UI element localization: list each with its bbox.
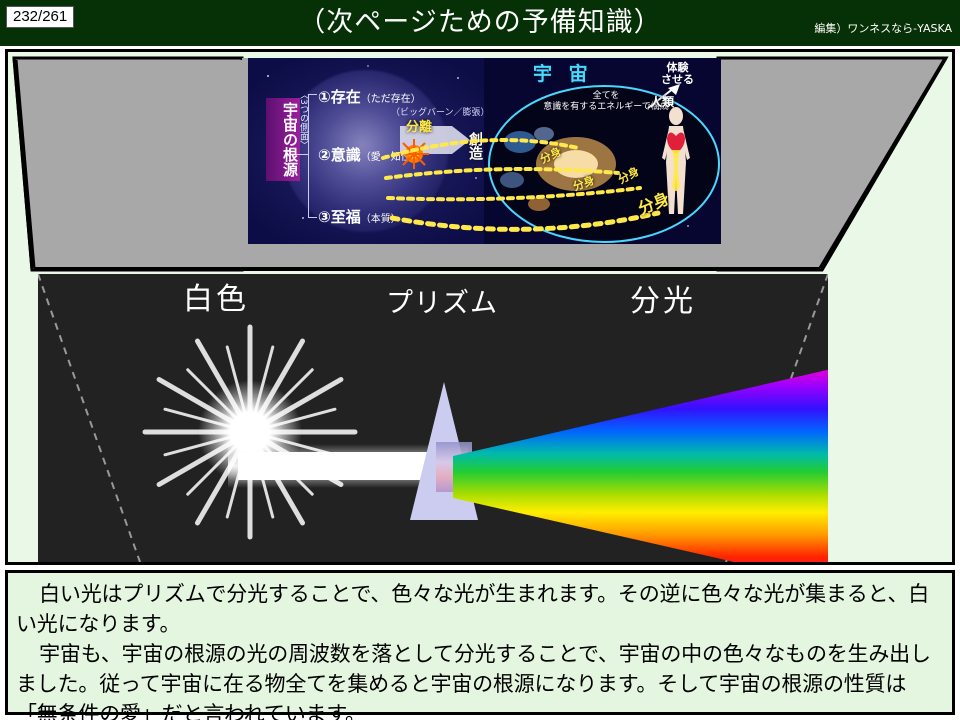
author-credit: 編集）ワンネスなら-YASKA (814, 22, 952, 35)
label-white-light: 白色 (183, 284, 249, 316)
aspect-1-num: ① (318, 88, 331, 106)
bigbang-note: （ビッグバーン／膨張） (391, 108, 490, 118)
caption-paragraph-2: 宇宙も、宇宙の根源の光の周波数を落として分光することで、宇宙の中の色々なものを生… (16, 639, 944, 720)
header-bar: 232/261 （次ページための予備知識） 編集）ワンネスなら-YASKA (0, 0, 960, 46)
universe-title: 宇 宙 (533, 64, 593, 85)
cosmology-inset-image: 宇宙の根源 〈3つの側面〉 ①存在（ただ存在） ②意識（愛・知性） ③至福（本質… (248, 58, 721, 244)
aspect-3-num: ③ (318, 208, 331, 226)
aspect-item-1: ①存在（ただ存在） (318, 86, 421, 107)
aspects-bracket-stem (296, 154, 309, 155)
source-root-label: 宇宙の根源 (266, 98, 300, 181)
aspect-2-name: 意識 (331, 146, 361, 164)
figure-frame: 宇宙の根源 〈3つの側面〉 ①存在（ただ存在） ②意識（愛・知性） ③至福（本質… (5, 49, 955, 565)
light-source-starburst (140, 322, 360, 542)
caption-box: 白い光はプリズムで分光することで、色々な光が生まれます。その逆に色々な光が集まる… (5, 570, 955, 715)
label-dispersion: 分光 (630, 286, 696, 318)
aspects-label: 〈3つの側面〉 (298, 90, 308, 150)
aspect-1-note: （ただ存在） (361, 94, 421, 105)
aspect-3-name: 至福 (331, 208, 361, 226)
aspect-2-num: ② (318, 146, 331, 164)
caption-paragraph-1: 白い光はプリズムで分光することで、色々な光が生まれます。その逆に色々な光が集まる… (16, 579, 944, 639)
aspect-1-name: 存在 (331, 88, 361, 106)
slide-root: 232/261 （次ページための予備知識） 編集）ワンネスなら-YASKA (0, 0, 960, 720)
universe-sub-line-1: 全てを (593, 91, 620, 101)
experience-label: 体験 させる (661, 62, 694, 86)
dispersed-spectrum (453, 364, 828, 562)
prism-stage: 白色 プリズム 分光 (38, 274, 828, 562)
label-prism: プリズム (386, 288, 498, 320)
aspects-bracket (308, 94, 317, 218)
